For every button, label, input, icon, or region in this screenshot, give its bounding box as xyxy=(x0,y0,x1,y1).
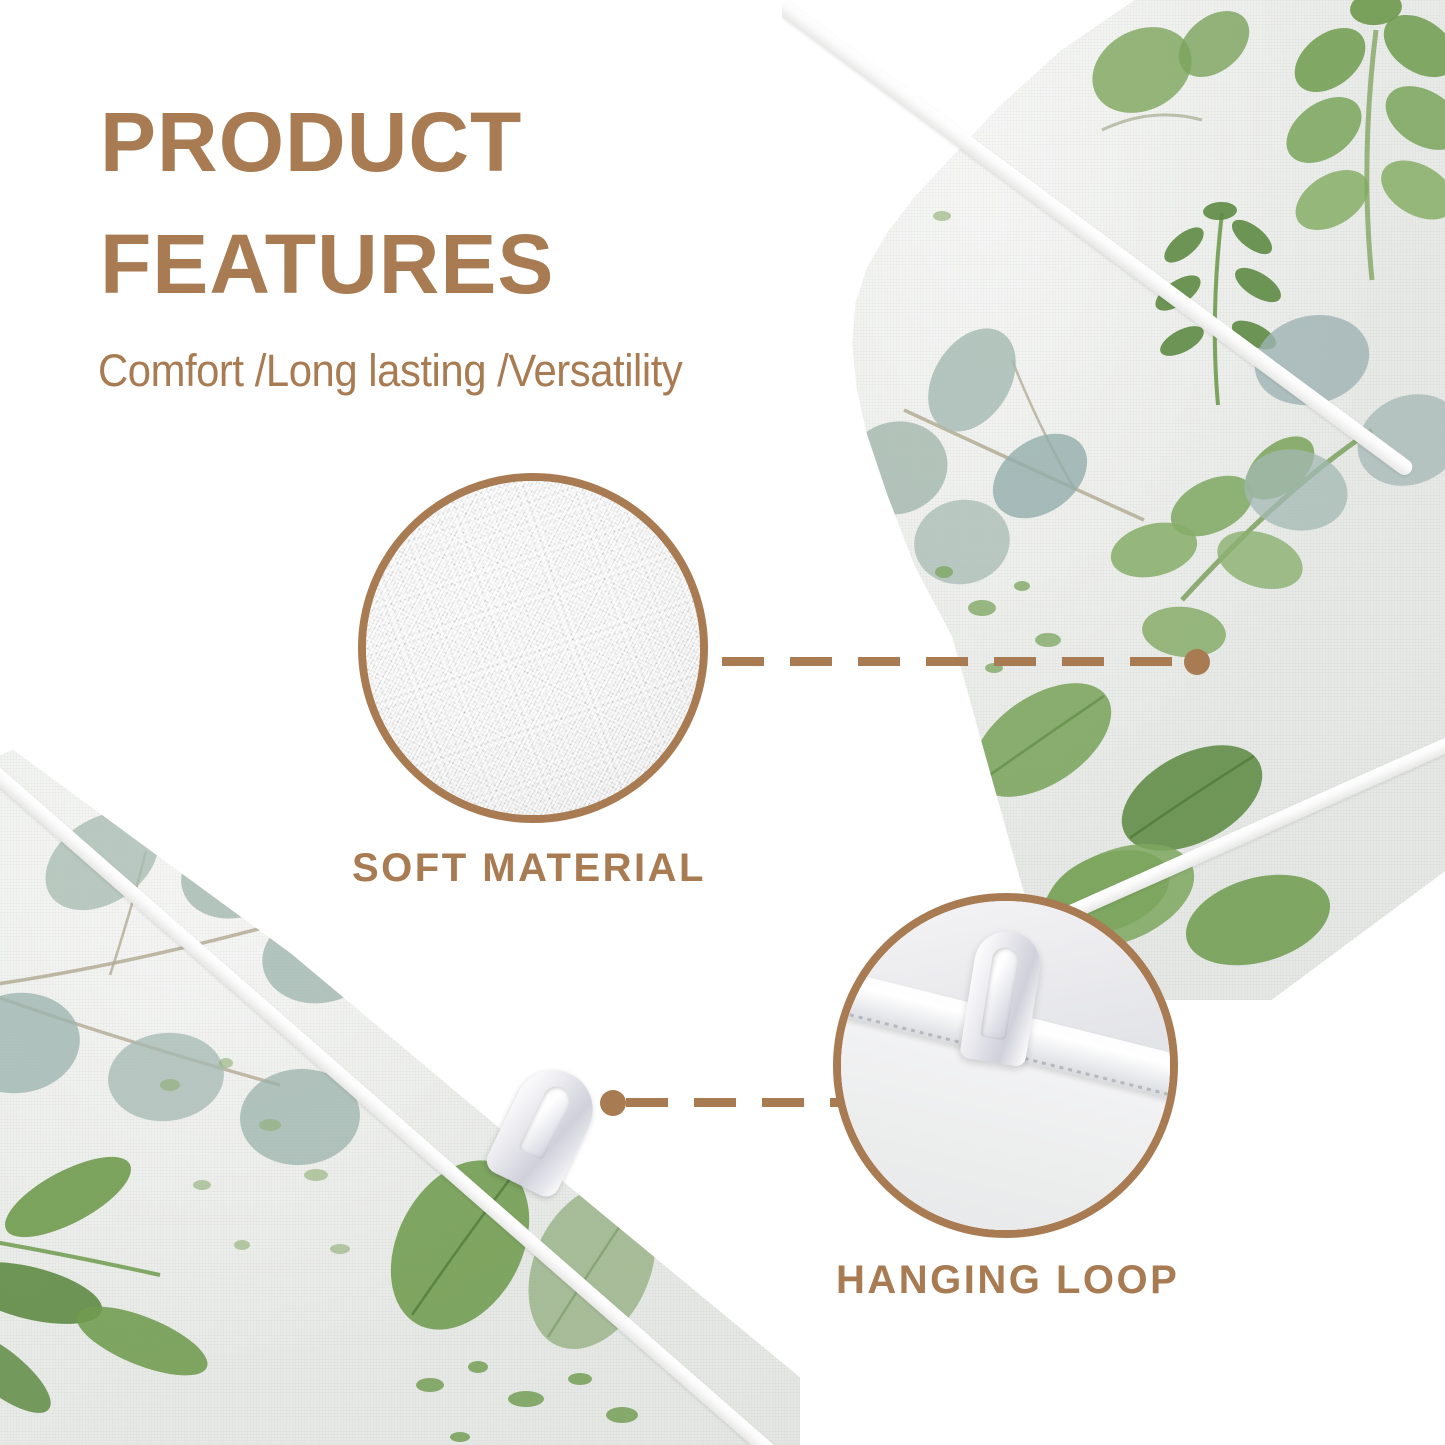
feature-detail-soft-material xyxy=(358,473,708,823)
connector-endpoint-dot xyxy=(1184,649,1210,675)
feature-caption-hanging-loop: HANGING LOOP xyxy=(836,1258,1179,1303)
title-line-2: FEATURES xyxy=(100,204,860,326)
bottom-left-towel xyxy=(0,735,800,1445)
page-title: PRODUCT FEATURES xyxy=(100,82,860,326)
towel-fabric-surface xyxy=(0,735,800,1445)
title-line-1: PRODUCT xyxy=(100,82,860,204)
connector-endpoint-dot xyxy=(600,1090,626,1116)
feature-detail-hanging-loop xyxy=(833,893,1178,1238)
terrycloth-texture-swatch xyxy=(366,481,700,815)
top-right-towel xyxy=(782,0,1445,1000)
subtitle: Comfort /Long lasting /Versatility xyxy=(98,345,682,397)
feature-caption-soft-material: SOFT MATERIAL xyxy=(352,846,706,891)
dashed-line xyxy=(722,657,1192,666)
towel-fabric-surface xyxy=(782,0,1445,1000)
product-features-infographic: PRODUCT FEATURES Comfort /Long lasting /… xyxy=(0,0,1445,1445)
